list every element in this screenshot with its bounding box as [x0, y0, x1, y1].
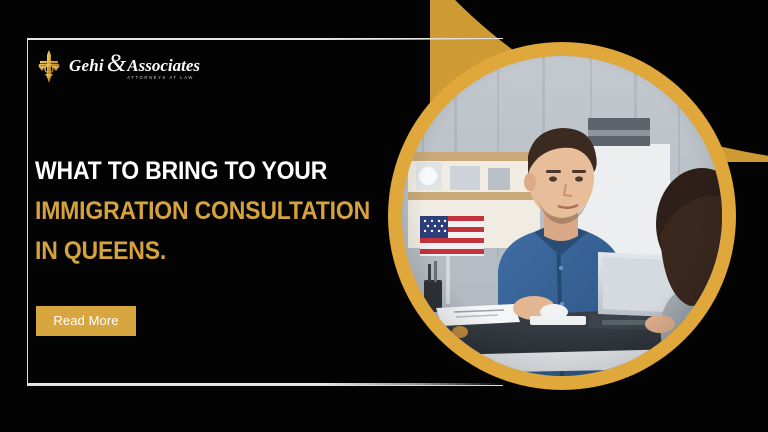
brand-name-primary: Gehi — [69, 57, 104, 74]
headline-line-2: IMMIGRATION CONSULTATION — [35, 191, 359, 231]
consultation-photo — [402, 56, 722, 376]
headline-line-1: WHAT TO BRING TO YOUR — [35, 151, 359, 191]
banner-content: Gehi & Associates ATTORNEYS AT LAW WHAT … — [27, 38, 407, 384]
page-title: WHAT TO BRING TO YOUR IMMIGRATION CONSUL… — [35, 151, 359, 271]
brand-name-secondary: Associates — [127, 57, 200, 74]
promo-banner: Gehi & Associates ATTORNEYS AT LAW WHAT … — [0, 0, 768, 432]
photo-gold-ring — [388, 42, 736, 390]
headline-line-3: IN QUEENS. — [35, 231, 359, 271]
brand-wordmark: Gehi & Associates ATTORNEYS AT LAW — [69, 54, 200, 80]
black-bottom-bar — [0, 396, 768, 432]
ampersand-glyph: & — [107, 54, 126, 74]
scales-of-justice-sword-icon — [36, 49, 62, 85]
brand-tagline: ATTORNEYS AT LAW — [69, 76, 200, 80]
read-more-button[interactable]: Read More — [36, 306, 136, 336]
brand-logo[interactable]: Gehi & Associates ATTORNEYS AT LAW — [36, 49, 200, 85]
